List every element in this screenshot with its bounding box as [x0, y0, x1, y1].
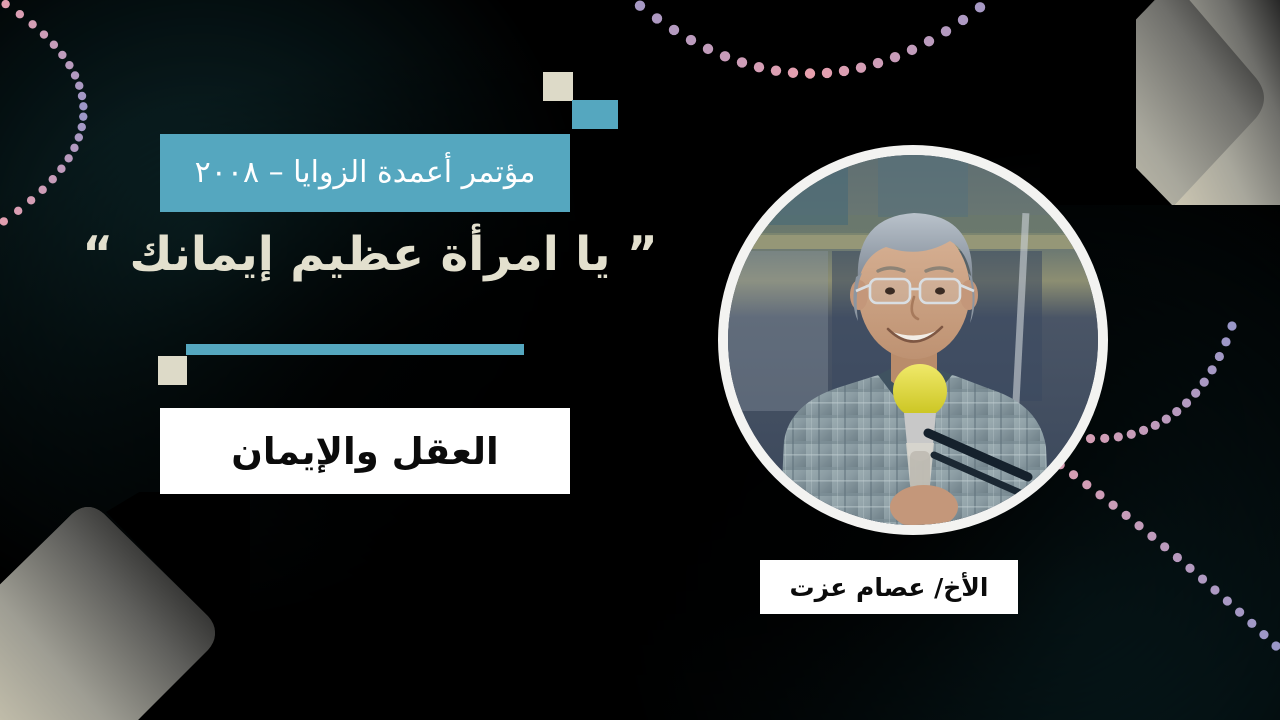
event-banner-label: مؤتمر أعمدة الزوايا – ٢٠٠٨ [195, 158, 536, 188]
decor-square-cream-middle [158, 356, 187, 385]
chevron-left-icon [1040, 0, 1280, 205]
decor-rule-teal [186, 344, 524, 355]
dotted-arc-top-center [600, 0, 1020, 124]
decor-square-cream-top [543, 72, 573, 101]
decor-square-teal-top [572, 100, 618, 129]
presentation-slide: مؤتمر أعمدة الزوايا – ٢٠٠٨ ” يا امرأة عظ… [0, 0, 1280, 720]
avatar-photo [728, 155, 1098, 525]
speaker-name-label: الأخ/ عصام عزت [790, 575, 989, 600]
topic-box: العقل والإيمان [160, 408, 570, 494]
page-title: ” يا امرأة عظيم إيمانك “ [80, 228, 660, 282]
chevron-right-icon [0, 492, 250, 720]
topic-label: العقل والإيمان [231, 433, 498, 470]
avatar [718, 145, 1108, 535]
event-banner: مؤتمر أعمدة الزوايا – ٢٠٠٨ [160, 134, 570, 212]
status-badge: الأخ/ عصام عزت [760, 560, 1018, 614]
